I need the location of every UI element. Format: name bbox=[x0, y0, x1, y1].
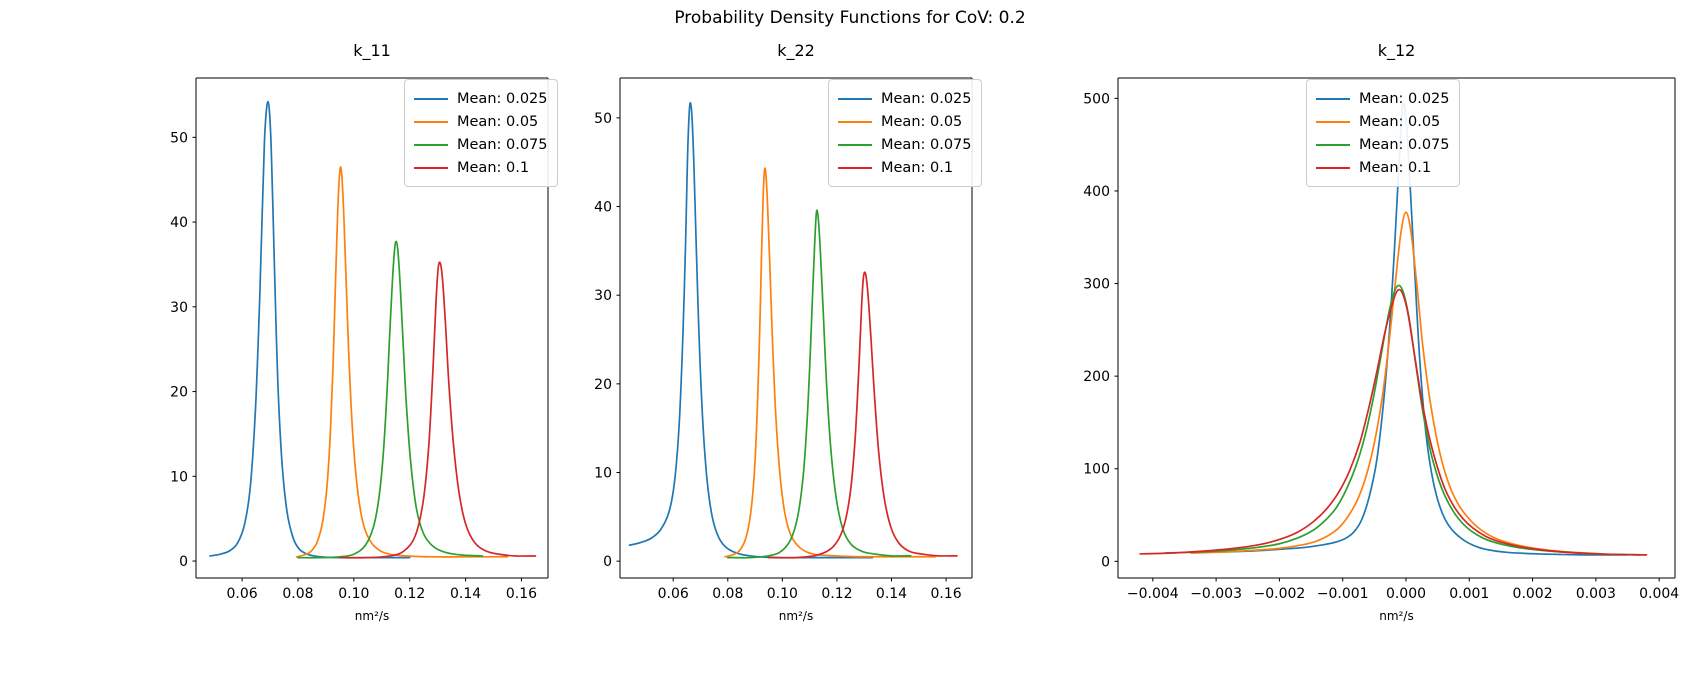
legend-label-1: Mean: 0.025 bbox=[1359, 91, 1450, 107]
x-tick-label: −0.004 bbox=[1127, 586, 1179, 602]
x-tick-label: 0.001 bbox=[1449, 586, 1489, 602]
x-tick-label: 0.002 bbox=[1513, 586, 1553, 602]
y-tick-label: 400 bbox=[1083, 184, 1110, 200]
legend-label-4: Mean: 0.1 bbox=[1359, 160, 1431, 176]
x-tick-label: 0.000 bbox=[1386, 586, 1426, 602]
legend-label-3: Mean: 0.075 bbox=[1359, 137, 1450, 153]
subplot-k12: k_12 −0.004−0.003−0.002−0.0010.0000.0010… bbox=[0, 0, 1700, 700]
legend-label-2: Mean: 0.05 bbox=[1359, 114, 1440, 130]
matplotlib-figure: Probability Density Functions for CoV: 0… bbox=[0, 0, 1700, 700]
legend-swatch-4 bbox=[1316, 167, 1350, 169]
series-line-3 bbox=[1165, 285, 1640, 554]
legend-k12[interactable]: Mean: 0.025Mean: 0.05Mean: 0.075Mean: 0.… bbox=[1306, 79, 1460, 187]
y-tick-label: 0 bbox=[1101, 554, 1110, 570]
series-line-2 bbox=[1191, 212, 1640, 555]
legend-entry-4: Mean: 0.1 bbox=[1316, 156, 1450, 179]
legend-entry-1: Mean: 0.025 bbox=[1316, 87, 1450, 110]
x-axis-label: nm²/s bbox=[1379, 609, 1413, 623]
y-tick-label: 200 bbox=[1083, 369, 1110, 385]
y-tick-label: 100 bbox=[1083, 462, 1110, 478]
legend-swatch-2 bbox=[1316, 121, 1350, 123]
y-tick-label: 300 bbox=[1083, 277, 1110, 293]
legend-entry-2: Mean: 0.05 bbox=[1316, 110, 1450, 133]
x-tick-label: −0.002 bbox=[1253, 586, 1305, 602]
series-line-4 bbox=[1140, 290, 1646, 555]
x-tick-label: 0.004 bbox=[1639, 586, 1679, 602]
x-tick-label: −0.001 bbox=[1317, 586, 1369, 602]
y-tick-label: 500 bbox=[1083, 91, 1110, 107]
legend-swatch-1 bbox=[1316, 98, 1350, 100]
legend-entry-3: Mean: 0.075 bbox=[1316, 133, 1450, 156]
x-tick-label: −0.003 bbox=[1190, 586, 1242, 602]
legend-swatch-3 bbox=[1316, 144, 1350, 146]
x-tick-label: 0.003 bbox=[1576, 586, 1616, 602]
